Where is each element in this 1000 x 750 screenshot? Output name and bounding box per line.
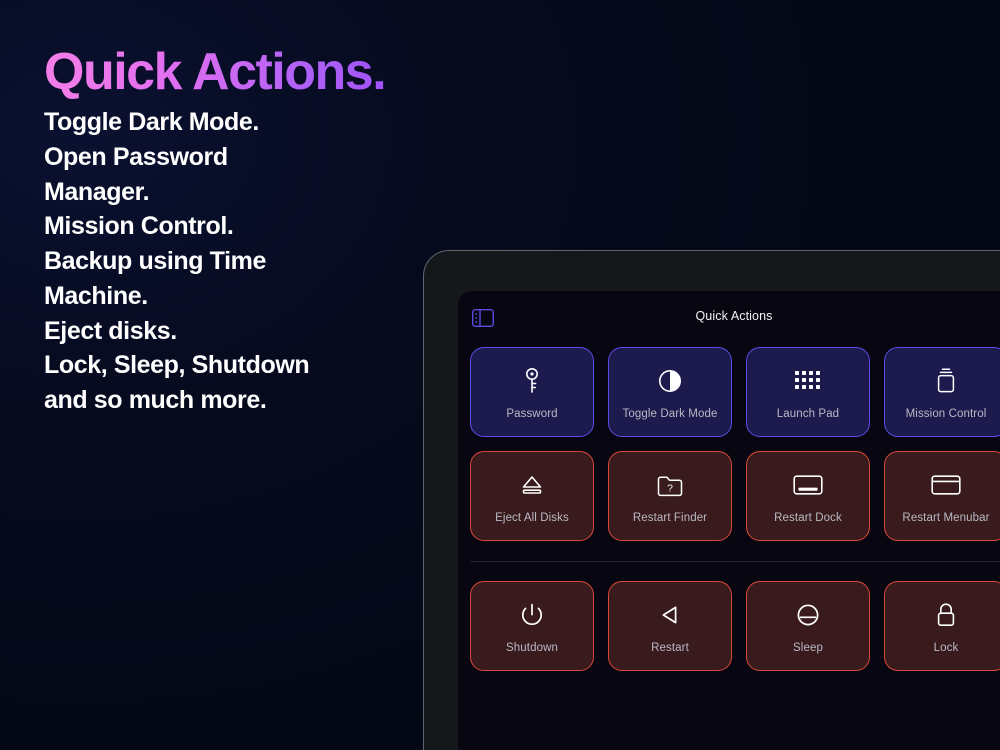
action-tile-restart-menubar[interactable]: Restart Menubar [884, 451, 1000, 541]
sleep-icon [795, 598, 821, 632]
action-tile-mission-control[interactable]: Mission Control [884, 347, 1000, 437]
action-group-restart-services: Eject All Disks ? Restart Finder [458, 451, 1000, 541]
feature-line: Open Password [44, 140, 414, 175]
action-tile-label: Restart Finder [633, 512, 707, 524]
action-tile-label: Lock [934, 642, 959, 654]
action-tile-label: Shutdown [506, 642, 558, 654]
action-tile-password[interactable]: Password [470, 347, 594, 437]
action-tile-label: Restart [651, 642, 689, 654]
page-title: Quick Actions. [44, 46, 414, 99]
action-tile-lock[interactable]: Lock [884, 581, 1000, 671]
dock-icon [793, 468, 823, 502]
action-tile-label: Eject All Disks [495, 512, 569, 524]
app-header: Quick Actions [458, 291, 1000, 347]
feature-list: Toggle Dark Mode. Open Password Manager.… [44, 105, 414, 418]
feature-line: Backup using Time [44, 244, 414, 279]
action-tile-restart-dock[interactable]: Restart Dock [746, 451, 870, 541]
feature-line: Eject disks. [44, 314, 414, 349]
half-circle-icon [656, 364, 684, 398]
lock-icon [934, 598, 958, 632]
menubar-icon [931, 468, 961, 502]
action-group-utilities: Password Toggle Dark Mode [458, 347, 1000, 437]
action-tile-label: Restart Menubar [902, 512, 989, 524]
action-tile-restart[interactable]: Restart [608, 581, 732, 671]
action-tile-restart-finder[interactable]: ? Restart Finder [608, 451, 732, 541]
key-icon [519, 364, 545, 398]
power-icon [519, 598, 545, 632]
folder-question-icon: ? [656, 468, 684, 502]
action-tile-label: Sleep [793, 642, 823, 654]
action-tile-label: Toggle Dark Mode [623, 408, 718, 420]
group-divider [470, 561, 1000, 562]
feature-line: Lock, Sleep, Shutdown [44, 348, 414, 383]
device-frame: Quick Actions Password [423, 250, 1000, 750]
action-tile-label: Restart Dock [774, 512, 842, 524]
action-tile-label: Mission Control [906, 408, 987, 420]
action-tile-toggle-dark-mode[interactable]: Toggle Dark Mode [608, 347, 732, 437]
action-tile-label: Launch Pad [777, 408, 839, 420]
marketing-copy: Quick Actions. Toggle Dark Mode. Open Pa… [44, 46, 414, 418]
app-window: Quick Actions Password [458, 291, 1000, 750]
feature-line: Mission Control. [44, 209, 414, 244]
eject-icon [518, 468, 546, 502]
action-tile-eject-all-disks[interactable]: Eject All Disks [470, 451, 594, 541]
triangle-left-icon [657, 598, 683, 632]
screenshot-root: Quick Actions. Toggle Dark Mode. Open Pa… [0, 0, 1000, 750]
feature-line: Toggle Dark Mode. [44, 105, 414, 140]
svg-text:?: ? [667, 482, 673, 494]
action-tile-launch-pad[interactable]: Launch Pad [746, 347, 870, 437]
feature-line: Manager. [44, 175, 414, 210]
action-tile-label: Password [506, 408, 557, 420]
grid-dots-icon [795, 364, 821, 398]
action-tile-sleep[interactable]: Sleep [746, 581, 870, 671]
app-title: Quick Actions [458, 309, 1000, 323]
feature-line: and so much more. [44, 383, 414, 418]
action-group-power: Shutdown Restart [458, 581, 1000, 671]
action-tile-shutdown[interactable]: Shutdown [470, 581, 594, 671]
feature-line: Machine. [44, 279, 414, 314]
stacked-windows-icon [933, 364, 959, 398]
